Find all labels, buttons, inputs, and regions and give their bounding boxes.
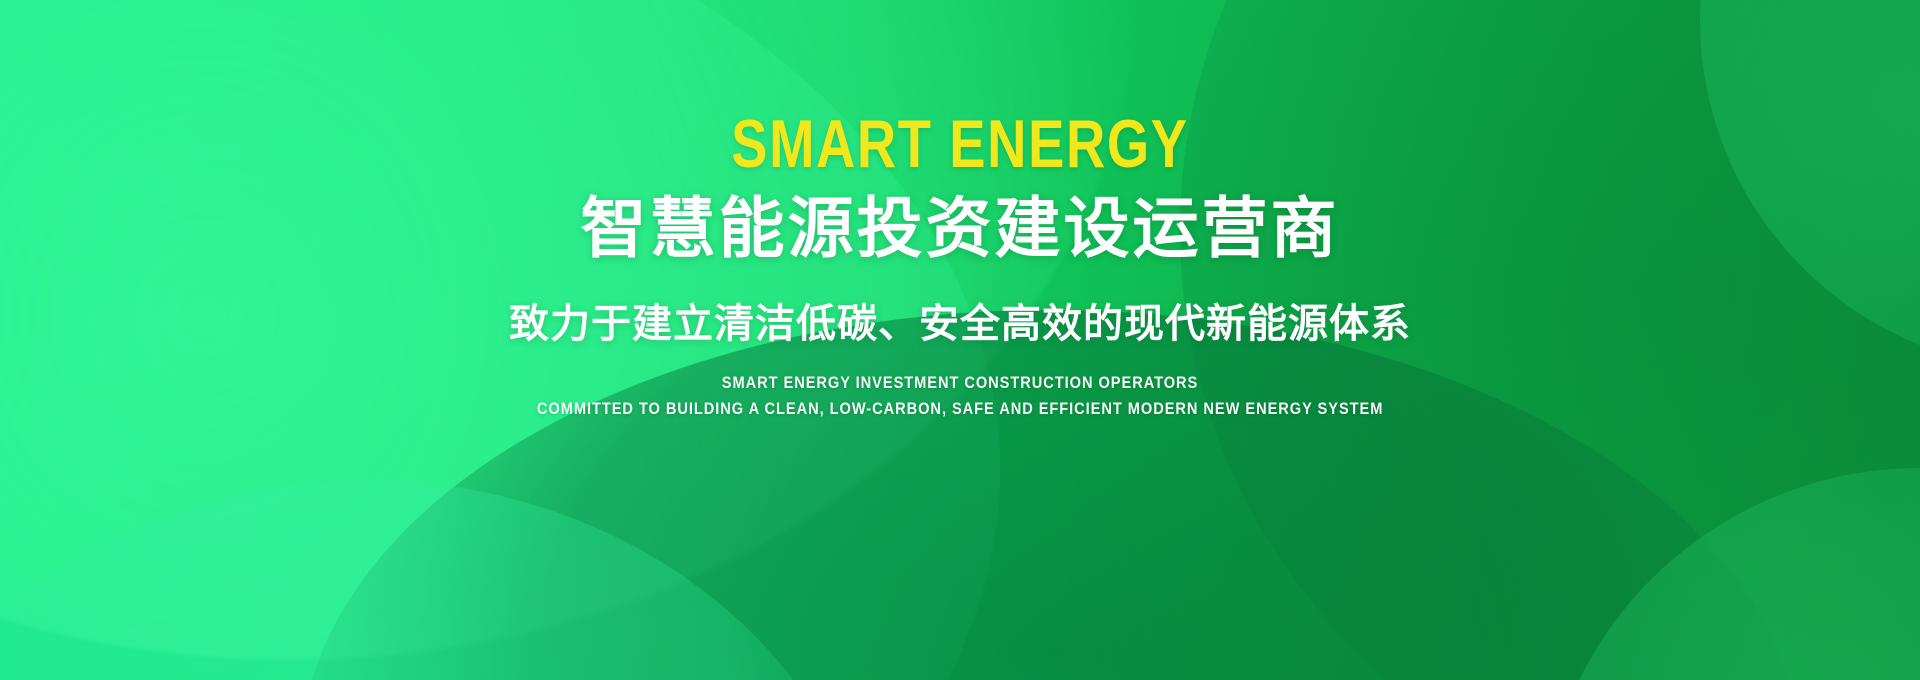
headline-english: SMART ENERGY [731, 110, 1188, 178]
caption-english-line-2: COMMITTED TO BUILDING A CLEAN, LOW-CARBO… [537, 396, 1383, 422]
caption-english-line-1: SMART ENERGY INVESTMENT CONSTRUCTION OPE… [722, 370, 1198, 396]
subheadline-chinese: 致力于建立清洁低碳、安全高效的现代新能源体系 [509, 300, 1411, 348]
headline-chinese: 智慧能源投资建设运营商 [581, 192, 1340, 266]
hero-banner: SMART ENERGY 智慧能源投资建设运营商 致力于建立清洁低碳、安全高效的… [0, 0, 1920, 680]
banner-content: SMART ENERGY 智慧能源投资建设运营商 致力于建立清洁低碳、安全高效的… [0, 0, 1920, 680]
